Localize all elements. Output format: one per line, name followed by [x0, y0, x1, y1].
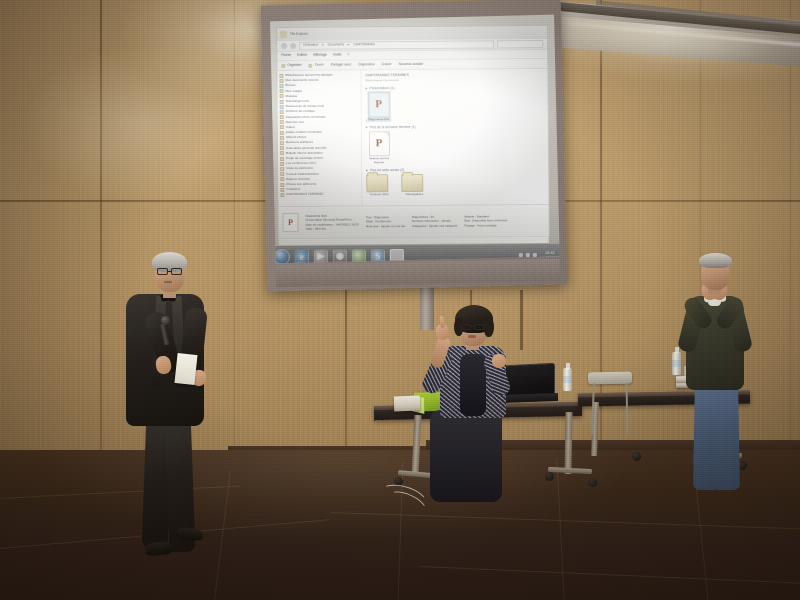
powerpoint-file-icon	[368, 92, 389, 117]
media-center-icon[interactable]: ◉	[333, 249, 347, 263]
file-tile-row: Diaporama final	[366, 91, 544, 122]
wall-seam	[790, 0, 791, 470]
chevron-right-icon	[366, 87, 368, 89]
details-column-2: Titre : Diaporama Objet : Conference Mot…	[366, 215, 405, 228]
folder-icon	[280, 120, 284, 124]
folder-tile-row: Archives 2012 Sauvegardes	[366, 173, 544, 197]
details-row: Categories : Ajouter une categorie	[412, 223, 457, 228]
nav-item-label[interactable]: DIAPORAMAS TERMINES	[286, 193, 323, 196]
content-subheading: Bibliotheque Documents	[365, 77, 543, 82]
details-column-3: Diapositives : 32 Derniere impression : …	[412, 215, 457, 228]
folder-icon	[280, 89, 284, 93]
breadcrumb-1[interactable]: Documents	[328, 44, 344, 47]
back-icon[interactable]	[281, 43, 287, 49]
powerpoint-file-icon	[282, 213, 298, 232]
powerpoint-file-icon	[368, 131, 389, 156]
folder-icon	[280, 157, 284, 161]
person-applauding	[678, 254, 756, 484]
internet-explorer-icon[interactable]: e	[295, 249, 309, 263]
file-tile-diaporama-final[interactable]: Diaporama final	[366, 92, 392, 122]
windows-media-player-icon[interactable]: ▶	[314, 249, 328, 263]
nav-item-label[interactable]: Bureau	[285, 84, 295, 87]
folder-icon	[280, 94, 284, 98]
folder-icon	[280, 105, 284, 109]
toolbar-open-label: Ouvrir	[315, 64, 324, 67]
person-speaker	[118, 250, 228, 570]
nav-item-label[interactable]: Memoire vive	[286, 121, 304, 124]
file-tile-seance-photos[interactable]: Seance photos Expose	[366, 131, 392, 165]
nav-item-label[interactable]: Bibliotheques documents partages	[285, 74, 332, 77]
toolbar-slideshow[interactable]: Diaporama	[358, 63, 374, 66]
details-column-4: Modele : Standard Etat : Disponible hors…	[464, 214, 507, 227]
organize-icon	[281, 63, 285, 67]
nav-item-label[interactable]: Mes documents recents	[285, 79, 318, 82]
glasses-left-lens-icon	[461, 324, 471, 330]
nav-item-label[interactable]: Projet de reportage annuel	[286, 157, 323, 160]
folder-icon	[280, 193, 284, 197]
hair	[699, 253, 732, 268]
toolbar-organize[interactable]: Organiser	[281, 63, 302, 67]
nav-item-label[interactable]: Visite du patrimoine	[286, 167, 313, 170]
group-header-earlier[interactable]: Plus tot cette annee (2)	[366, 167, 544, 172]
chevron-right-icon	[366, 126, 368, 128]
toolbar-open[interactable]: Ouvrir	[309, 63, 324, 67]
toolbar-share[interactable]: Partager avec	[331, 63, 352, 66]
folder-icon	[280, 136, 284, 140]
nav-item-label[interactable]: Photos des adherents	[286, 183, 316, 186]
photograph-scene: File Explorer Ordinateur ▸ Documents ▸ D…	[0, 0, 800, 600]
nav-item-label[interactable]: Invitations	[286, 188, 300, 191]
menu-item-view[interactable]: Affichage	[313, 54, 327, 57]
table-leg	[564, 412, 572, 474]
folder-icon	[279, 79, 283, 83]
nav-item-label[interactable]: Musique	[286, 95, 298, 98]
nav-item-label[interactable]: Telechargements	[286, 100, 310, 103]
nav-item-label[interactable]: Archives de montage	[286, 110, 315, 113]
nav-item-label[interactable]: Reunions publiques	[286, 141, 313, 144]
nav-item-label[interactable]: Rapport d'activite	[286, 178, 310, 181]
folder-tile-sauvegardes[interactable]: Sauvegardes	[401, 174, 427, 197]
window-title-text: File Explorer	[290, 33, 308, 36]
search-input[interactable]	[497, 40, 543, 48]
address-bar[interactable]: Ordinateur ▸ Documents ▸ DIAPORAMAS	[299, 40, 494, 50]
shirt-collar	[708, 300, 721, 306]
glasses-bridge-icon	[471, 326, 474, 327]
details-pane: Diaporama final Presentation Microsoft P…	[278, 204, 548, 238]
projected-desktop: File Explorer Ordinateur ▸ Documents ▸ D…	[270, 19, 560, 263]
folder-icon	[279, 84, 283, 88]
folder-icon	[280, 162, 284, 166]
top-center-panel	[460, 354, 486, 416]
group-label-text: Plus de la semaine derniere (1)	[370, 125, 416, 129]
folder-icon	[280, 167, 284, 171]
wall-seam	[234, 0, 235, 470]
chrome-icon[interactable]	[352, 249, 366, 263]
group-label-text: Presentations (1)	[370, 86, 395, 90]
breadcrumb-0[interactable]: Ordinateur	[303, 44, 318, 47]
file-tile-row: Seance photos Expose	[366, 130, 544, 166]
folder-icon	[366, 174, 388, 192]
file-tile-sublabel: Expose	[366, 161, 392, 165]
glasses-left-lens-icon	[157, 268, 168, 275]
projection-screen: File Explorer Ordinateur ▸ Documents ▸ D…	[261, 0, 568, 291]
table-caster	[588, 478, 597, 487]
details-row: Taille : 48,6 Mo	[306, 226, 359, 231]
folder-icon	[279, 74, 283, 78]
glasses-right-lens-icon	[171, 268, 182, 275]
details-column-1: Diaporama final Presentation Microsoft P…	[306, 213, 359, 231]
papers	[174, 353, 197, 385]
wall-seam	[345, 290, 347, 470]
nav-item-label[interactable]: Videos	[286, 126, 295, 129]
folder-icon	[280, 141, 284, 145]
nav-item-label[interactable]: Bulletin interne association	[286, 152, 323, 155]
menu-item-file[interactable]: Fichier	[281, 54, 291, 57]
details-row: Mots cles : Ajouter un mot cle	[366, 224, 405, 229]
leg-right	[713, 378, 740, 490]
office-app-icon[interactable]: S	[371, 249, 385, 263]
lower-body	[430, 410, 502, 502]
microphone-head	[161, 316, 170, 325]
mouth	[164, 281, 172, 283]
folder-tile-label: Sauvegardes	[401, 193, 427, 197]
folder-icon	[401, 174, 423, 192]
tray-icon[interactable]	[526, 253, 530, 257]
person-seated-panelist	[416, 302, 536, 502]
menu-item-help[interactable]: ?	[347, 54, 349, 57]
menu-item-edit[interactable]: Edition	[297, 54, 307, 57]
water-bottle-1	[563, 368, 572, 391]
folder-icon	[280, 183, 284, 187]
tray-icon[interactable]	[519, 253, 523, 257]
folder-icon	[280, 151, 284, 155]
folder-icon	[280, 146, 284, 150]
nav-item-label[interactable]: Assemblee generale annuelle	[286, 146, 327, 149]
folder-icon	[280, 172, 284, 176]
wall-seam	[100, 0, 102, 470]
folder-tile-label: Archives 2012	[366, 193, 392, 197]
menu-item-tools[interactable]: Outils	[333, 54, 341, 57]
file-explorer-window[interactable]: File Explorer Ordinateur ▸ Documents ▸ D…	[276, 25, 550, 239]
glasses-bridge-icon	[168, 271, 171, 272]
table-caster	[632, 452, 641, 461]
folder-icon	[280, 177, 284, 181]
breadcrumb-sep: ▸	[322, 44, 324, 47]
tray-icon[interactable]	[533, 253, 537, 257]
breadcrumb-sep: ▸	[348, 44, 350, 47]
nav-item-label[interactable]: Mes images	[286, 89, 303, 92]
nav-item-label[interactable]: Albums photos	[286, 136, 306, 139]
nav-item-label[interactable]: Les conferences 2013	[286, 162, 316, 165]
hand-left	[492, 354, 506, 368]
nav-item: DIAPORAMAS TERMINES	[280, 192, 361, 198]
group-header-presentations[interactable]: Presentations (1)	[366, 85, 544, 90]
folder-tile-archives[interactable]: Archives 2012	[366, 174, 392, 197]
glasses-right-lens-icon	[474, 324, 484, 330]
folder-icon	[280, 31, 287, 38]
mouth	[468, 335, 476, 338]
shoe-left	[144, 541, 173, 557]
folder-icon	[280, 110, 284, 114]
start-button-icon[interactable]	[274, 248, 290, 263]
folder-icon	[280, 131, 284, 135]
hair-side	[484, 317, 494, 337]
chevron-right-icon	[366, 169, 368, 171]
folder-icon	[280, 125, 284, 129]
breadcrumb-2[interactable]: DIAPORAMAS	[354, 44, 375, 47]
file-tile-label: Diaporama final	[366, 118, 392, 122]
screen-surface: File Explorer Ordinateur ▸ Documents ▸ D…	[270, 15, 560, 264]
table-caster	[545, 472, 554, 481]
group-header-lastweek[interactable]: Plus de la semaine derniere (1)	[366, 124, 544, 129]
nav-item-label[interactable]: Ressources du reseau local	[286, 105, 324, 108]
folder-icon	[280, 115, 284, 119]
nav-item-label[interactable]: Conseil d'administration	[286, 172, 319, 175]
open-icon	[309, 63, 313, 67]
nav-item-label[interactable]: Atelier creation numerique	[286, 131, 322, 134]
folder-icon	[280, 100, 284, 104]
nav-item-label[interactable]: Association photo numerique	[286, 115, 326, 118]
forward-icon[interactable]	[290, 43, 296, 49]
index-finger	[439, 316, 445, 328]
group-label-text: Plus tot cette annee (2)	[370, 168, 404, 172]
folder-icon	[280, 188, 284, 192]
details-row: Partage : Aucun partage	[464, 223, 507, 228]
file-tile-label: Seance photos	[366, 157, 392, 161]
toolbar-organize-label: Organiser	[287, 64, 302, 67]
toolbar-new-folder[interactable]: Nouveau dossier	[399, 63, 424, 66]
toolbar-burn[interactable]: Graver	[381, 63, 391, 66]
